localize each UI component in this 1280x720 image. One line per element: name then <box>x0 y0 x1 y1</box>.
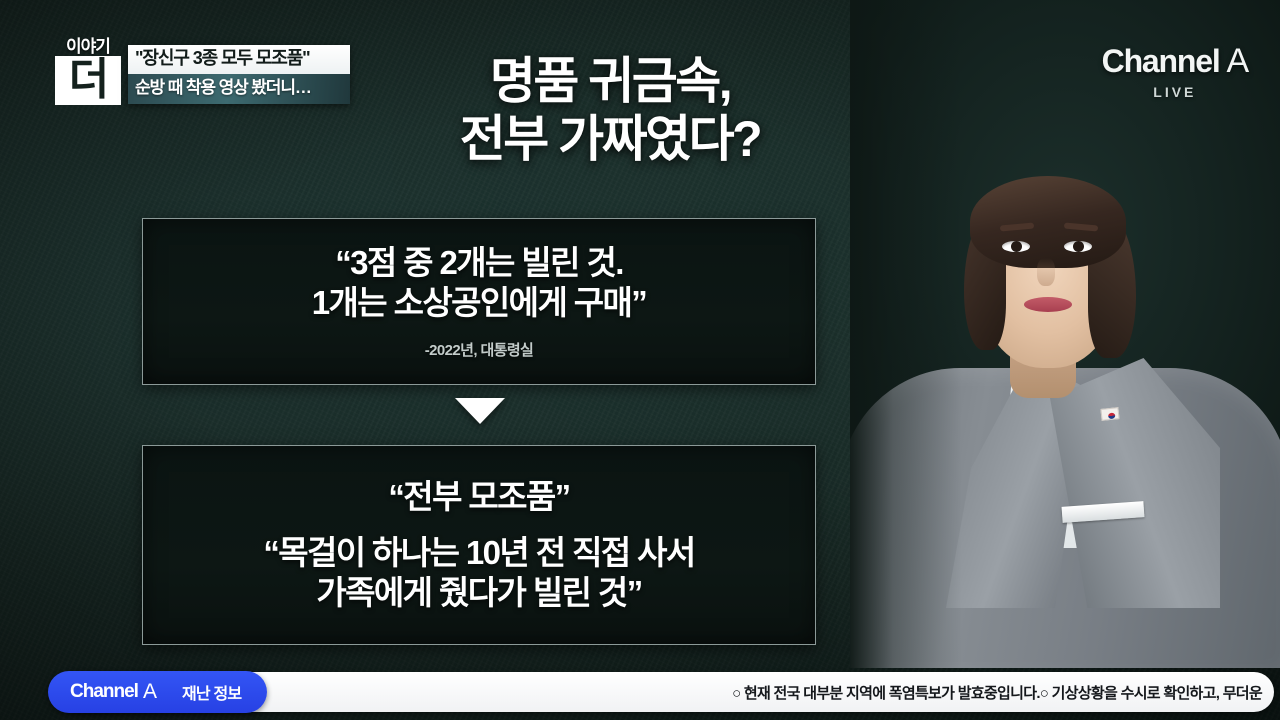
quote2-headline: “전부 모조품” <box>388 477 569 517</box>
banner-line-2: 순방 때 착용 영상 봤더니… <box>128 74 350 104</box>
broadcast-frame: 이야기 더 "장신구 3종 모두 모조품" 순방 때 착용 영상 봤더니… Ch… <box>0 0 1280 720</box>
quote2-line-2: 가족에게 줬다가 빌린 것” <box>316 573 641 613</box>
ticker-brand-pill: Channel A 재난 정보 <box>48 671 267 713</box>
ticker-message: ○ 현재 전국 대부분 지역에 폭염특보가 발효중입니다.○ 기상상황을 수시로… <box>732 682 1274 703</box>
ticker-category-label: 재난 정보 <box>182 680 241 704</box>
channel-brand-text: Channel <box>1102 45 1220 77</box>
anchor-photo <box>850 0 1280 668</box>
ticker-brand: Channel A <box>70 680 156 704</box>
quote2-line-1: “목걸이 하나는 10년 전 직접 사서 <box>263 533 694 573</box>
program-logo-main: 더 <box>55 56 121 105</box>
photo-edge-gradient <box>850 0 1280 668</box>
quote-box-first-statement: “3점 중 2개는 빌린 것. 1개는 소상공인에게 구매” -2022년, 대… <box>142 218 816 385</box>
main-headline-line-1: 명품 귀금속, <box>330 52 890 110</box>
quote-box-second-statement: “전부 모조품” “목걸이 하나는 10년 전 직접 사서 가족에게 줬다가 빌… <box>142 445 816 645</box>
program-logo-sub: 이야기 <box>55 38 121 55</box>
ticker-channel-a-mark-icon: A <box>143 680 156 704</box>
channel-brand: Channel A LIVE <box>1102 44 1248 100</box>
quote1-line-1: “3점 중 2개는 빌린 것. <box>335 243 623 283</box>
quote1-line-2: 1개는 소상공인에게 구매” <box>312 283 646 323</box>
triangle-down-icon <box>455 398 505 424</box>
quote1-attribution: -2022년, 대통령실 <box>425 339 534 360</box>
headline-banner: "장신구 3종 모두 모조품" 순방 때 착용 영상 봤더니… <box>128 45 350 104</box>
banner-line-1: "장신구 3종 모두 모조품" <box>128 45 350 74</box>
channel-a-mark-icon: A <box>1227 44 1248 78</box>
program-logo: 이야기 더 <box>55 38 121 116</box>
ticker-brand-text: Channel <box>70 681 138 703</box>
main-headline: 명품 귀금속, 전부 가짜였다? <box>330 52 890 168</box>
disaster-ticker-bar: ○ 현재 전국 대부분 지역에 폭염특보가 발효중입니다.○ 기상상황을 수시로… <box>0 672 1280 712</box>
main-headline-line-2: 전부 가짜였다? <box>330 110 890 168</box>
live-badge: LIVE <box>1102 84 1248 100</box>
channel-brand-name: Channel A <box>1102 44 1248 78</box>
